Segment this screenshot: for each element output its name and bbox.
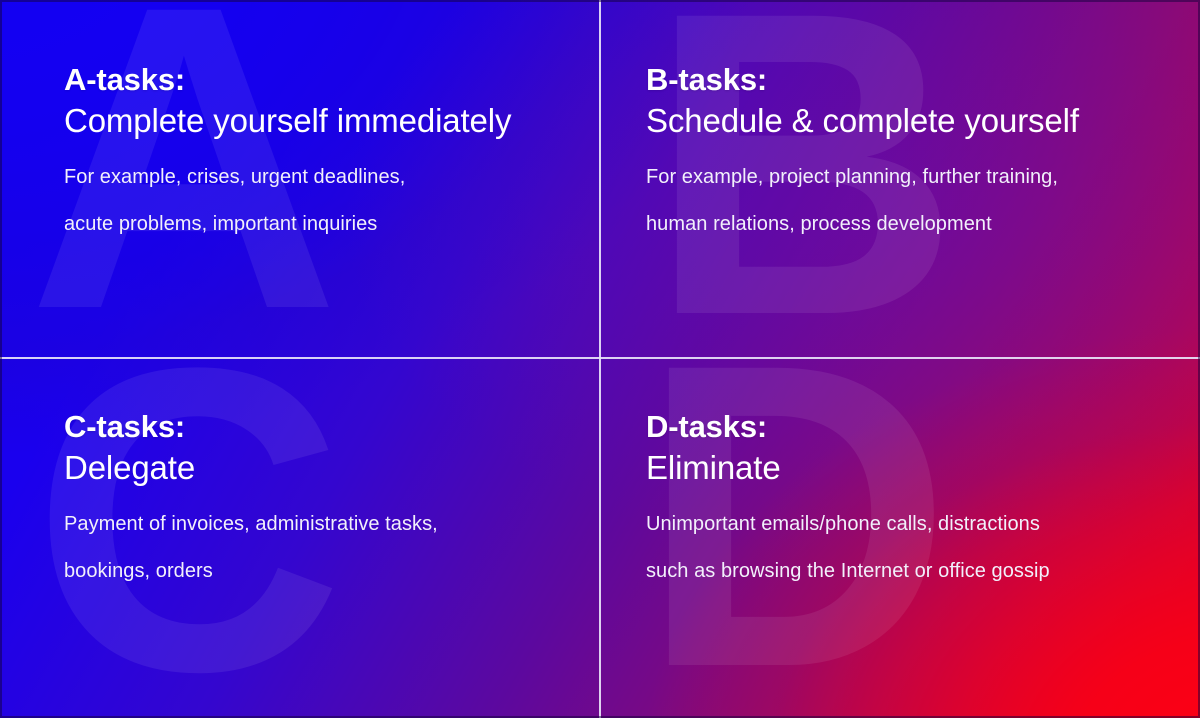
quadrant-a-tasks: A-tasks: Complete yourself immediately F… xyxy=(0,0,599,357)
quadrant-a-subtitle: Complete yourself immediately xyxy=(64,103,579,139)
quadrant-b-heading: B-tasks: xyxy=(646,64,1180,95)
quadrant-b-detail-line-1: For example, project planning, further t… xyxy=(646,167,1180,187)
quadrant-c-heading: C-tasks: xyxy=(64,411,579,442)
quadrant-d-subtitle: Eliminate xyxy=(646,450,1180,486)
quadrant-b-content: B-tasks: Schedule & complete yourself Fo… xyxy=(646,64,1180,234)
quadrant-c-detail-line-2: bookings, orders xyxy=(64,561,579,581)
quadrant-c-detail-line-1: Payment of invoices, administrative task… xyxy=(64,514,579,534)
quadrant-d-detail-line-2: such as browsing the Internet or office … xyxy=(646,561,1180,581)
quadrant-a-detail-line-2: acute problems, important inquiries xyxy=(64,214,579,234)
quadrant-a-content: A-tasks: Complete yourself immediately F… xyxy=(64,64,579,234)
quadrant-b-subtitle: Schedule & complete yourself xyxy=(646,103,1180,139)
quadrant-d-content: D-tasks: Eliminate Unimportant emails/ph… xyxy=(646,411,1180,581)
quadrant-c-subtitle: Delegate xyxy=(64,450,579,486)
quadrant-a-detail-line-1: For example, crises, urgent deadlines, xyxy=(64,167,579,187)
quadrant-c-tasks: C-tasks: Delegate Payment of invoices, a… xyxy=(0,359,599,718)
quadrant-d-detail-line-1: Unimportant emails/phone calls, distract… xyxy=(646,514,1180,534)
quadrant-a-heading: A-tasks: xyxy=(64,64,579,95)
eisenhower-matrix: A B C D A-tasks: Complete yourself immed… xyxy=(0,0,1200,718)
quadrant-d-heading: D-tasks: xyxy=(646,411,1180,442)
quadrant-b-detail-line-2: human relations, process development xyxy=(646,214,1180,234)
horizontal-divider xyxy=(0,357,1200,359)
quadrant-c-content: C-tasks: Delegate Payment of invoices, a… xyxy=(64,411,579,581)
quadrant-b-tasks: B-tasks: Schedule & complete yourself Fo… xyxy=(601,0,1200,357)
quadrant-d-tasks: D-tasks: Eliminate Unimportant emails/ph… xyxy=(601,359,1200,718)
vertical-divider xyxy=(599,0,601,718)
